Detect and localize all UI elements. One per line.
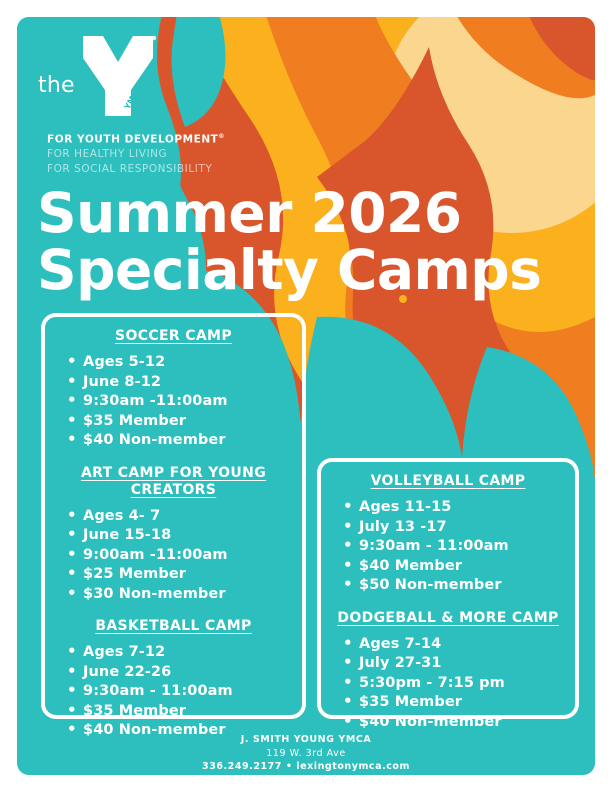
list-item: 5:30pm - 7:15 pm bbox=[359, 674, 567, 694]
list-item: $50 Non-member bbox=[359, 576, 567, 596]
list-item: 9:30am - 11:00am bbox=[359, 537, 567, 557]
list-item: June 15-18 bbox=[83, 526, 294, 546]
tagline-line-2: FOR HEALTHY LIVING bbox=[47, 147, 225, 162]
list-item: $40 Non-member bbox=[359, 713, 567, 733]
headline-line-1: Summer 2026 bbox=[37, 185, 541, 242]
camp-title: BASKETBALL CAMP bbox=[53, 618, 294, 635]
list-item: July 27-31 bbox=[359, 654, 567, 674]
camp-card-left: SOCCER CAMP Ages 5-12 June 8-12 9:30am -… bbox=[41, 313, 306, 719]
footer-phone-website: 336.249.2177 • lexingtonymca.com bbox=[17, 760, 595, 774]
camp-detail-list: Ages 4- 7 June 15-18 9:00am -11:00am $25… bbox=[53, 507, 294, 605]
tagline-line-3: FOR SOCIAL RESPONSIBILITY bbox=[47, 162, 225, 177]
poster-canvas: the YMCA FOR YOUTH DEVELOPMENT® FOR HEAL… bbox=[17, 17, 595, 775]
list-item: 9:30am - 11:00am bbox=[83, 682, 294, 702]
camp-basketball: BASKETBALL CAMP Ages 7-12 June 22-26 9:3… bbox=[45, 618, 302, 741]
tagline-line-1-text: FOR YOUTH DEVELOPMENT bbox=[47, 134, 218, 146]
footer-address: 119 W. 3rd Ave bbox=[17, 747, 595, 761]
page-title: Summer 2026 Specialty Camps bbox=[37, 185, 541, 299]
registered-mark-icon: ® bbox=[218, 133, 225, 140]
headline-line-2: Specialty Camps bbox=[37, 242, 541, 299]
list-item: July 13 -17 bbox=[359, 518, 567, 538]
list-item: $40 Member bbox=[359, 557, 567, 577]
ymca-tagline: FOR YOUTH DEVELOPMENT® FOR HEALTHY LIVIN… bbox=[47, 130, 225, 176]
camp-detail-list: Ages 7-14 July 27-31 5:30pm - 7:15 pm $3… bbox=[329, 635, 567, 733]
list-item: $25 Member bbox=[83, 565, 294, 585]
camp-dodgeball: DODGEBALL & MORE CAMP Ages 7-14 July 27-… bbox=[321, 610, 575, 733]
ymca-logo: the YMCA bbox=[35, 27, 160, 122]
list-item: Ages 7-14 bbox=[359, 635, 567, 655]
ymca-y-icon: YMCA bbox=[79, 32, 157, 120]
list-item: $40 Non-member bbox=[83, 431, 294, 451]
camp-card-right: VOLLEYBALL CAMP Ages 11-15 July 13 -17 9… bbox=[317, 458, 579, 719]
camp-title: ART CAMP FOR YOUNG CREATORS bbox=[53, 465, 294, 499]
list-item: $35 Member bbox=[83, 412, 294, 432]
camp-detail-list: Ages 7-12 June 22-26 9:30am - 11:00am $3… bbox=[53, 643, 294, 741]
list-item: 9:30am -11:00am bbox=[83, 392, 294, 412]
footer-contact: J. SMITH YOUNG YMCA 119 W. 3rd Ave 336.2… bbox=[17, 733, 595, 774]
camp-detail-list: Ages 5-12 June 8-12 9:30am -11:00am $35 … bbox=[53, 353, 294, 451]
footer-org-name: J. SMITH YOUNG YMCA bbox=[17, 733, 595, 747]
tagline-line-1: FOR YOUTH DEVELOPMENT® bbox=[47, 130, 225, 147]
camp-title: DODGEBALL & MORE CAMP bbox=[329, 610, 567, 627]
list-item: Ages 7-12 bbox=[83, 643, 294, 663]
camp-title: SOCCER CAMP bbox=[53, 328, 294, 345]
list-item: June 8-12 bbox=[83, 373, 294, 393]
camp-detail-list: Ages 11-15 July 13 -17 9:30am - 11:00am … bbox=[329, 498, 567, 596]
list-item: Ages 5-12 bbox=[83, 353, 294, 373]
camp-title: VOLLEYBALL CAMP bbox=[329, 473, 567, 490]
list-item: $35 Member bbox=[359, 693, 567, 713]
list-item: $30 Non-member bbox=[83, 585, 294, 605]
camp-volleyball: VOLLEYBALL CAMP Ages 11-15 July 13 -17 9… bbox=[321, 473, 575, 596]
list-item: Ages 11-15 bbox=[359, 498, 567, 518]
list-item: $35 Member bbox=[83, 702, 294, 722]
camp-art: ART CAMP FOR YOUNG CREATORS Ages 4- 7 Ju… bbox=[45, 465, 302, 605]
list-item: Ages 4- 7 bbox=[83, 507, 294, 527]
list-item: 9:00am -11:00am bbox=[83, 546, 294, 566]
logo-the-text: the bbox=[38, 73, 75, 98]
camp-soccer: SOCCER CAMP Ages 5-12 June 8-12 9:30am -… bbox=[45, 328, 302, 451]
list-item: June 22-26 bbox=[83, 663, 294, 683]
